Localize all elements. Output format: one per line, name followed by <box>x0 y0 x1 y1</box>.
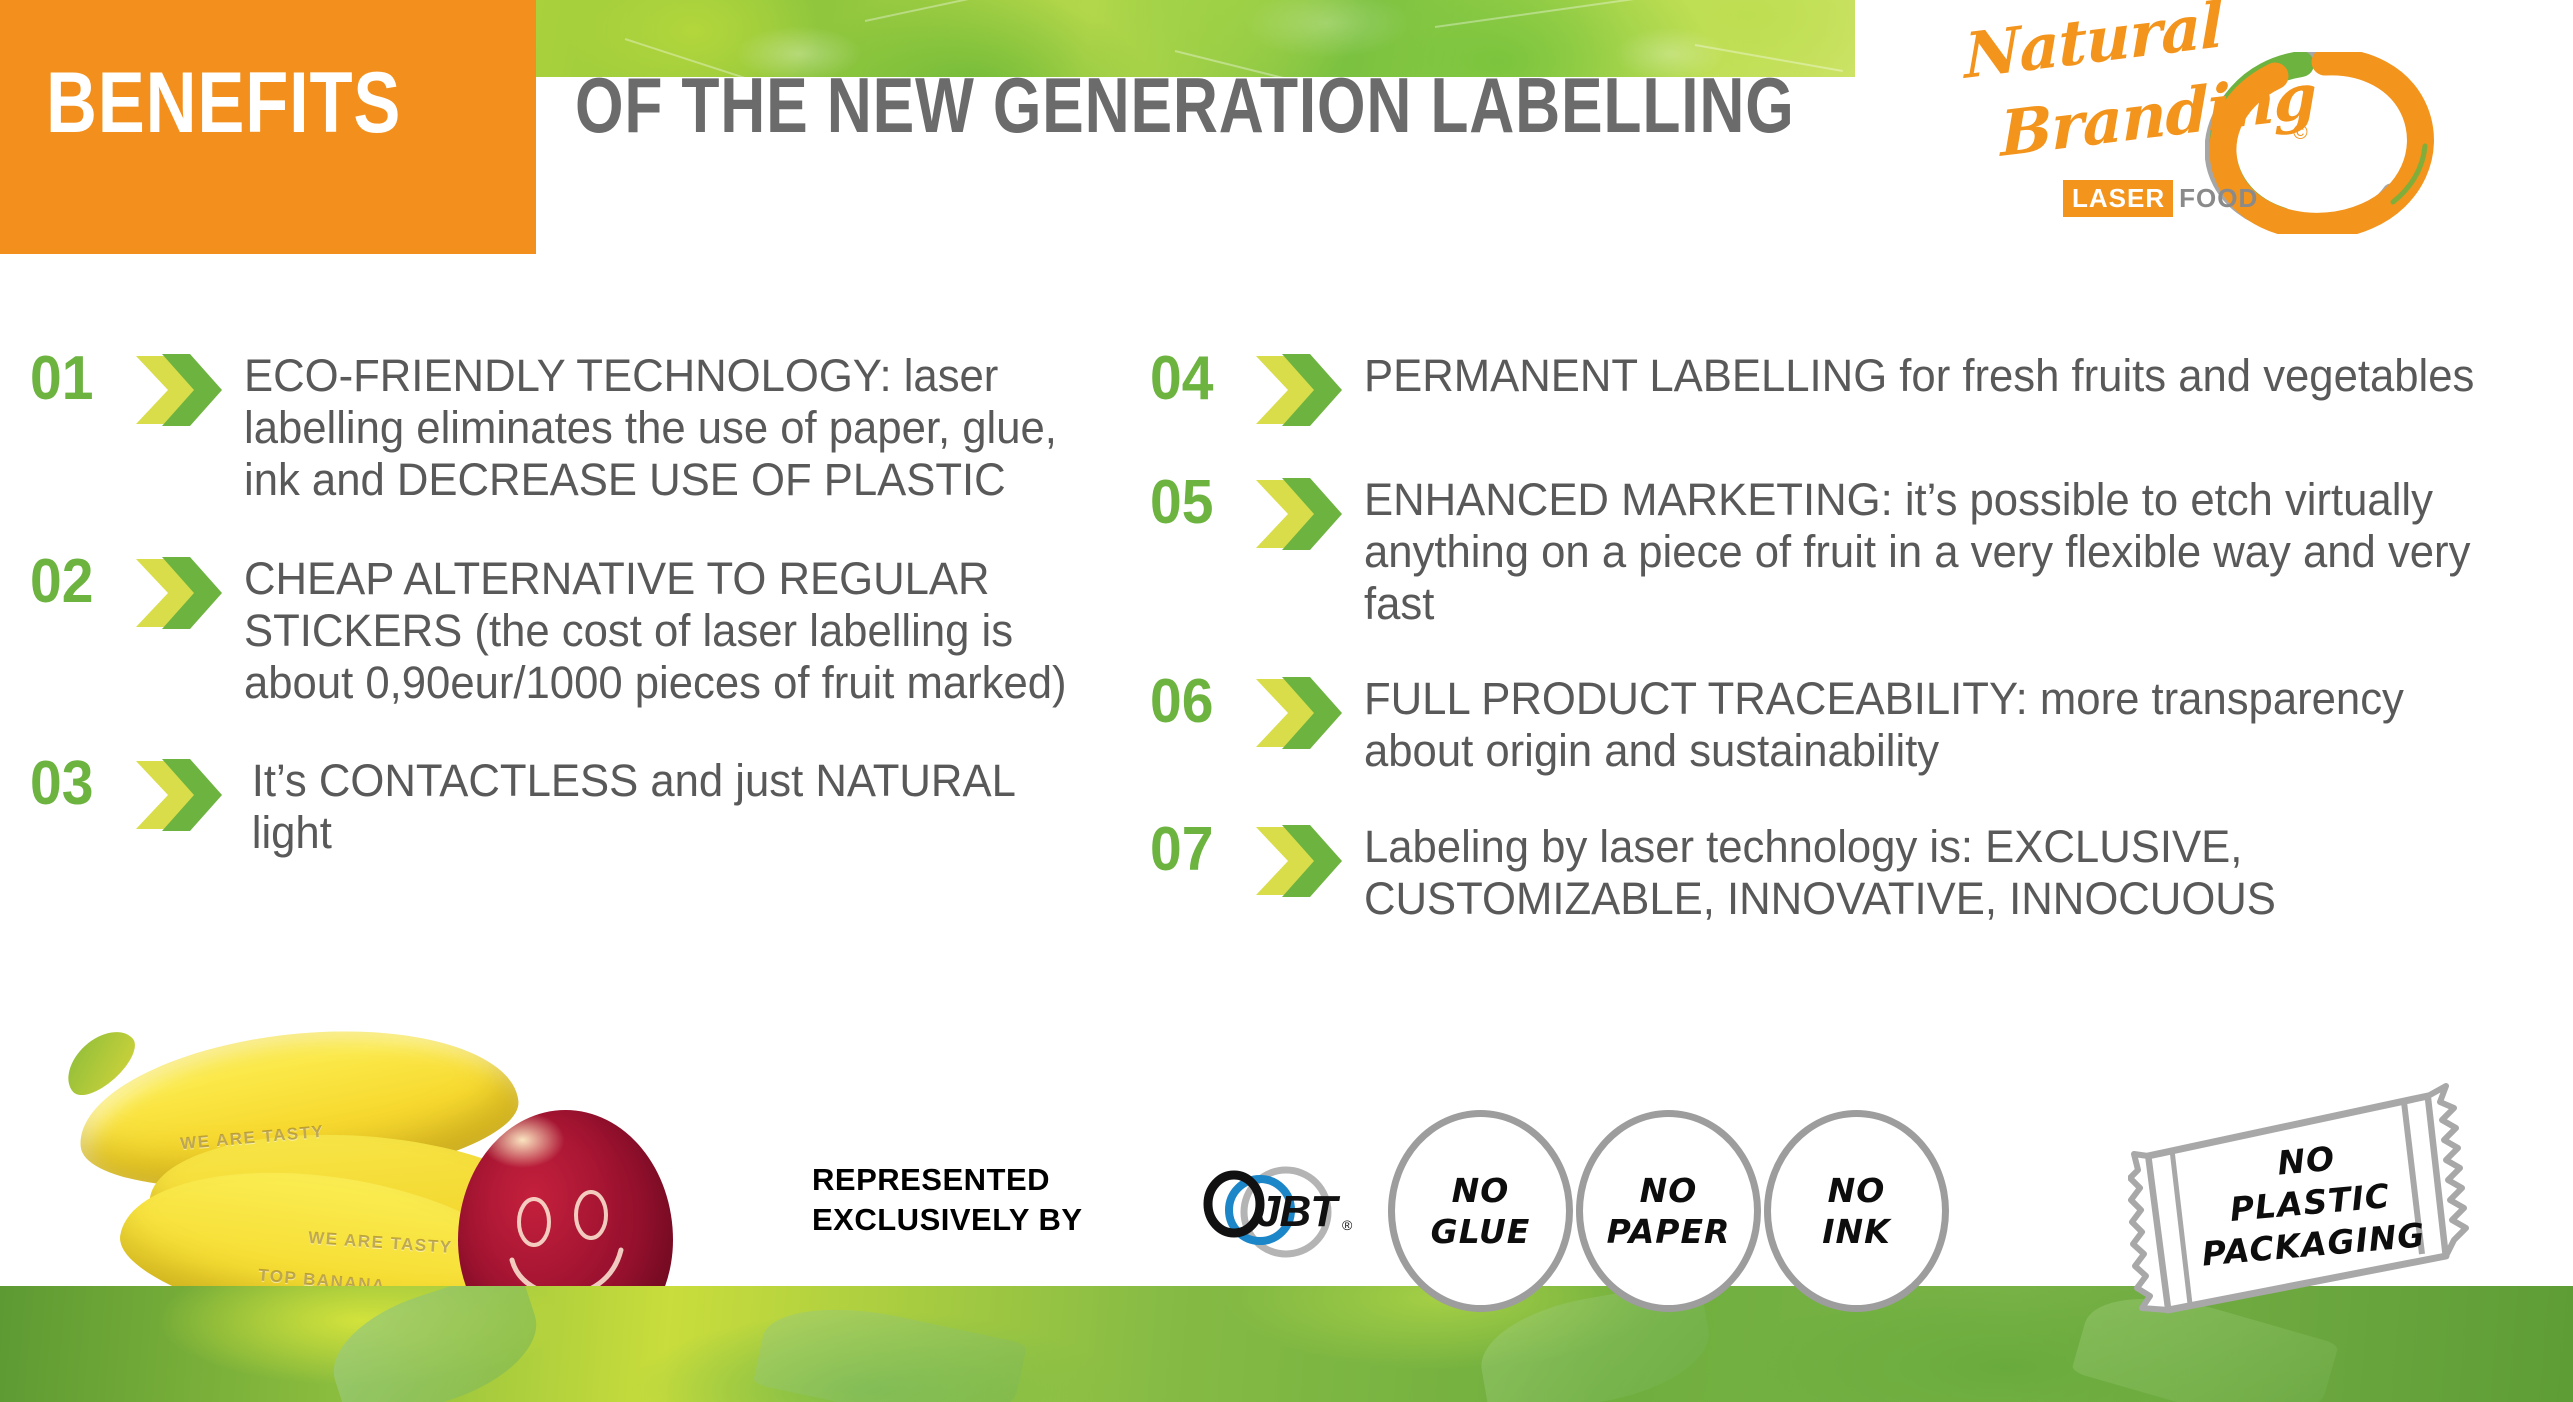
badge-line-1: NO <box>1640 1170 1698 1211</box>
page-title-highlight: BENEFITS <box>46 60 401 146</box>
benefit-text: Labeling by laser technology is: EXCLUSI… <box>1364 819 2514 925</box>
benefit-item-04: 04 PERMANENT LABELLING for fresh fruits … <box>1150 348 2550 432</box>
benefit-text: PERMANENT LABELLING for fresh fruits and… <box>1364 348 2514 402</box>
benefits-column-right: 04 PERMANENT LABELLING for fresh fruits … <box>1150 348 2550 925</box>
benefit-text: CHEAP ALTERNATIVE TO REGULAR STICKERS (t… <box>244 551 1094 710</box>
badge-no-glue: NO GLUE <box>1388 1110 1573 1312</box>
wrapper-text-block: NO PLASTIC PACKAGING <box>2175 1129 2445 1278</box>
chevron-icon <box>1254 472 1350 556</box>
badge-no-ink: NO INK <box>1764 1110 1949 1312</box>
chevron-icon <box>1254 671 1350 755</box>
benefit-item-07: 07 Labeling by laser technology is: EXCL… <box>1150 819 2550 925</box>
benefit-number: 05 <box>1150 472 1246 534</box>
benefit-number: 01 <box>30 348 126 410</box>
benefit-number: 06 <box>1150 671 1246 733</box>
page-title-rest: OF THE NEW GENERATION LABELLING <box>575 66 1795 144</box>
represented-by-text: REPRESENTED EXCLUSIVELY BY <box>812 1160 1083 1241</box>
badge-line-2: GLUE <box>1431 1211 1531 1252</box>
chevron-icon <box>134 551 230 635</box>
badge-line-1: NO <box>1452 1170 1510 1211</box>
chevron-icon <box>1254 348 1350 432</box>
benefit-number: 03 <box>30 753 126 815</box>
benefit-item-03: 03 It’s CONTACTLESS and just NATURAL lig… <box>30 753 1120 859</box>
svg-text:®: ® <box>1342 1217 1353 1233</box>
svg-text:JBT: JBT <box>1256 1187 1340 1236</box>
badge-line-2: INK <box>1822 1211 1890 1252</box>
laserfood-badge-laser: LASER <box>2063 180 2173 217</box>
benefit-item-02: 02 CHEAP ALTERNATIVE TO REGULAR STICKERS… <box>30 551 1120 710</box>
benefit-number: 02 <box>30 551 126 613</box>
jbt-partner-logo-icon: JBT ® <box>1190 1160 1360 1270</box>
benefit-item-05: 05 ENHANCED MARKETING: it’s possible to … <box>1150 472 2550 631</box>
natural-branding-logo: Natural Branding © LASER FOOD <box>1955 14 2435 224</box>
chevron-icon <box>1254 819 1350 903</box>
benefit-text: FULL PRODUCT TRACEABILITY: more transpar… <box>1364 671 2514 777</box>
benefit-item-01: 01 ECO-FRIENDLY TECHNOLOGY: laser labell… <box>30 348 1120 507</box>
infographic-canvas: BENEFITS OF THE NEW GENERATION LABELLING… <box>0 0 2573 1402</box>
represented-line-2: EXCLUSIVELY BY <box>812 1200 1083 1240</box>
logo-copyright-mark: © <box>2293 122 2308 145</box>
benefit-number: 04 <box>1150 348 1246 410</box>
chevron-icon <box>134 753 230 837</box>
laserfood-badge-food: FOOD <box>2173 183 2258 214</box>
benefits-column-left: 01 ECO-FRIENDLY TECHNOLOGY: laser labell… <box>30 348 1120 860</box>
benefit-text: ECO-FRIENDLY TECHNOLOGY: laser labelling… <box>244 348 1094 507</box>
chevron-icon <box>134 348 230 432</box>
badge-line-1: NO <box>1828 1170 1886 1211</box>
benefit-item-06: 06 FULL PRODUCT TRACEABILITY: more trans… <box>1150 671 2550 777</box>
badge-no-plastic-packaging: NO PLASTIC PACKAGING <box>2128 1078 2573 1318</box>
badge-line-2: PAPER <box>1607 1211 1731 1252</box>
laserfood-badge: LASER FOOD <box>2063 180 2258 217</box>
benefit-text: ENHANCED MARKETING: it’s possible to etc… <box>1364 472 2514 631</box>
benefit-text: It’s CONTACTLESS and just NATURAL light <box>244 753 1094 859</box>
represented-line-1: REPRESENTED <box>812 1160 1083 1200</box>
benefit-number: 07 <box>1150 819 1246 881</box>
badge-no-paper: NO PAPER <box>1576 1110 1761 1312</box>
